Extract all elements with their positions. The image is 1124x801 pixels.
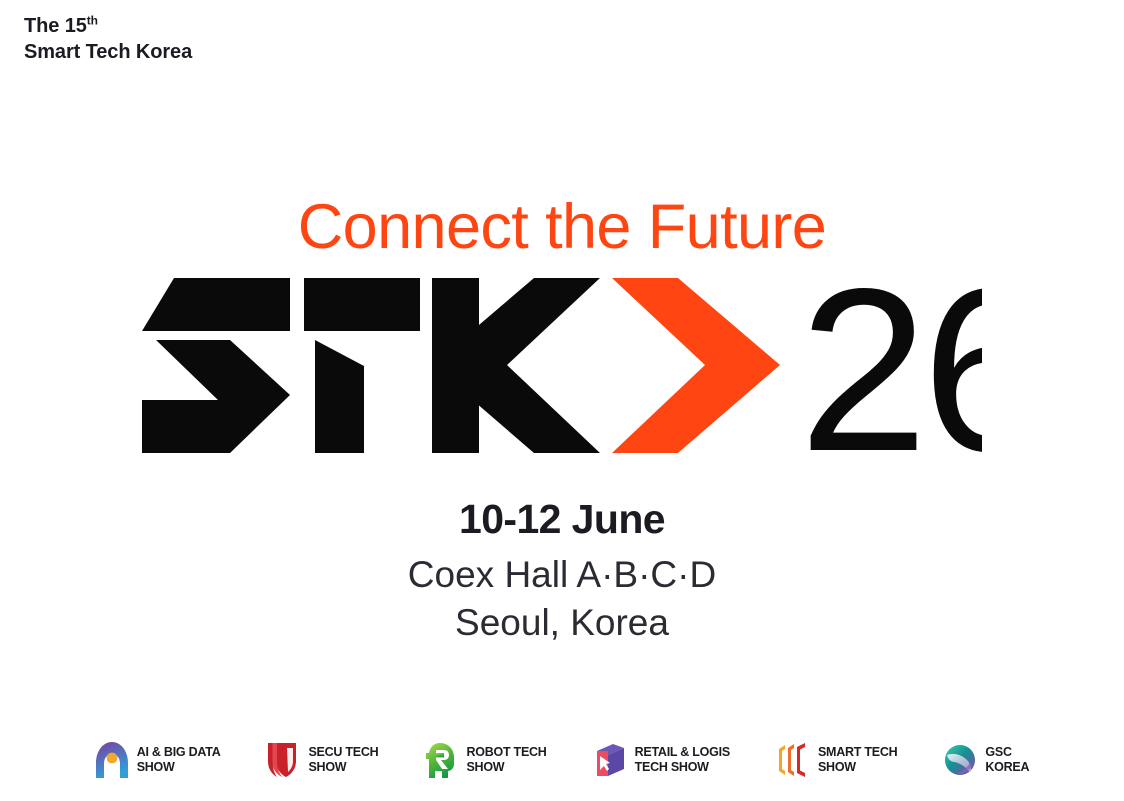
show-item-robot-tech[interactable]: ROBOT TECHSHOW: [424, 737, 546, 783]
show-label-line1: SECU TECH: [308, 745, 378, 759]
hero-section: Connect the Future: [0, 0, 1124, 720]
ai-arch-icon: [95, 741, 129, 779]
show-label-ai-big-data: AI & BIG DATASHOW: [137, 745, 221, 775]
logo-letter-k: [432, 278, 600, 453]
show-label-smart-tech: SMART TECHSHOW: [818, 745, 897, 775]
show-label-line2: SHOW: [137, 760, 221, 775]
logo-chevron-accent: [612, 278, 780, 453]
event-venue: Coex Hall A·B·C·D: [408, 556, 716, 593]
svg-text:26: 26: [799, 278, 982, 453]
show-label-line1: ROBOT TECH: [466, 745, 546, 759]
show-label-line2: SHOW: [818, 760, 897, 775]
show-label-line2: TECH SHOW: [635, 760, 730, 775]
logo-year-26: 26: [799, 278, 982, 453]
show-label-line1: SMART TECH: [818, 745, 897, 759]
show-label-line2: SHOW: [308, 760, 378, 775]
show-label-line1: GSC: [985, 745, 1011, 759]
show-label-retail-logis: RETAIL & LOGISTECH SHOW: [635, 745, 730, 775]
show-item-gsc-korea[interactable]: GSCKOREA: [943, 737, 1029, 783]
logo-letter-s: [142, 278, 290, 453]
show-item-secu-tech[interactable]: SECU TECHSHOW: [266, 737, 378, 783]
shield-icon: [266, 741, 300, 779]
triple-bracket-icon: [776, 741, 810, 779]
show-item-ai-big-data[interactable]: AI & BIG DATASHOW: [95, 737, 221, 783]
logo-letter-t: [304, 278, 420, 453]
tagline: Connect the Future: [298, 196, 827, 259]
show-label-line1: RETAIL & LOGIS: [635, 745, 730, 759]
cursor-box-icon: [593, 741, 627, 779]
event-dates: 10-12 June: [408, 499, 716, 540]
globe-sphere-icon: [943, 741, 977, 779]
event-city: Seoul, Korea: [408, 604, 716, 641]
show-label-gsc-korea: GSCKOREA: [985, 745, 1029, 775]
stk26-logo-lockup: 26: [142, 278, 982, 453]
show-label-secu-tech: SECU TECHSHOW: [308, 745, 378, 775]
show-label-line1: AI & BIG DATA: [137, 745, 221, 759]
robot-head-r-icon: [424, 741, 458, 779]
show-item-smart-tech[interactable]: SMART TECHSHOW: [776, 737, 897, 783]
show-label-robot-tech: ROBOT TECHSHOW: [466, 745, 546, 775]
show-label-line2: KOREA: [985, 760, 1029, 775]
show-item-retail-logis[interactable]: RETAIL & LOGISTECH SHOW: [593, 737, 730, 783]
event-details: 10-12 June Coex Hall A·B·C·D Seoul, Kore…: [408, 499, 716, 641]
show-label-line2: SHOW: [466, 760, 546, 775]
sister-shows-strip: AI & BIG DATASHOW SECU TECHSHOW: [0, 725, 1124, 795]
